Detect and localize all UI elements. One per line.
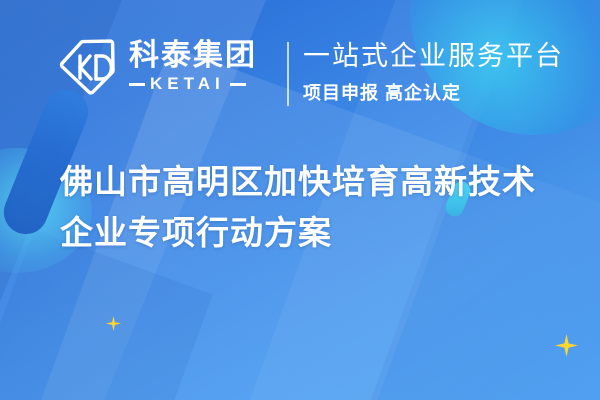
- brand-header: 科泰集团 KETAI: [56, 36, 257, 98]
- header-divider: [287, 42, 289, 106]
- slogan-block: 一站式企业服务平台 项目申报 高企认定: [303, 40, 564, 105]
- logo-company-en: KETAI: [150, 74, 225, 94]
- sparkle-star-icon: [106, 316, 121, 331]
- page-title-line-2: 企业专项行动方案: [60, 207, 560, 258]
- promo-banner: 科泰集团 KETAI 一站式企业服务平台 项目申报 高企认定 佛山市高明区加快培…: [0, 0, 600, 400]
- slogan-sub: 项目申报 高企认定: [303, 79, 564, 105]
- page-title-line-1: 佛山市高明区加快培育高新技术: [60, 156, 560, 207]
- dash-left-icon: [129, 83, 145, 86]
- page-title: 佛山市高明区加快培育高新技术 企业专项行动方案: [60, 156, 560, 258]
- logo-company-cn: 科泰集团: [129, 39, 257, 72]
- ketai-diamond-kd-logo-icon: [56, 36, 118, 98]
- dash-right-icon: [230, 83, 246, 86]
- sparkle-star-icon: [555, 334, 578, 357]
- slogan-main: 一站式企业服务平台: [303, 40, 564, 73]
- logo-company-en-row: KETAI: [129, 74, 257, 94]
- logo-wordmark: 科泰集团 KETAI: [129, 40, 257, 95]
